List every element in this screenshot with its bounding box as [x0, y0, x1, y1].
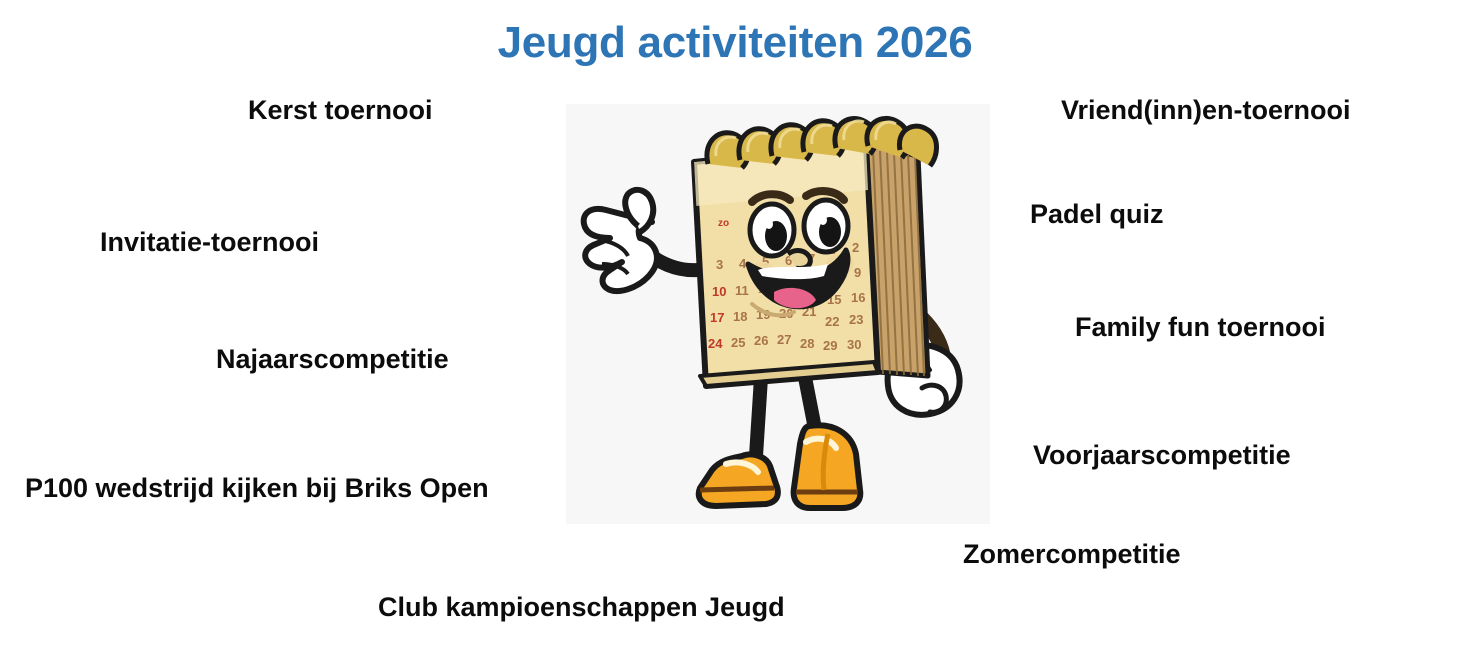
- svg-text:zo: zo: [718, 218, 729, 229]
- svg-text:26: 26: [754, 333, 768, 348]
- svg-text:3: 3: [716, 257, 723, 272]
- activity-label-vriendinnen-toernooi: Vriend(inn)en-toernooi: [1061, 96, 1351, 124]
- svg-text:17: 17: [710, 310, 724, 325]
- svg-text:24: 24: [708, 336, 723, 351]
- calendar-mascot-icon: zo ma 1 2 3 4 5 6 7 8 9 10 11 12: [566, 104, 990, 524]
- svg-text:29: 29: [823, 338, 837, 353]
- activity-label-invitatie-toernooi: Invitatie-toernooi: [100, 228, 319, 256]
- svg-text:18: 18: [733, 309, 747, 324]
- mascot-right-shoe: [794, 425, 861, 508]
- svg-text:25: 25: [731, 335, 745, 350]
- svg-text:2: 2: [852, 240, 859, 255]
- svg-text:11: 11: [735, 283, 749, 298]
- activity-label-padel-quiz: Padel quiz: [1030, 200, 1164, 228]
- svg-text:30: 30: [847, 337, 861, 352]
- activity-label-family-fun-toernooi: Family fun toernooi: [1075, 313, 1326, 341]
- page-title: Jeugd activiteiten 2026: [0, 18, 1470, 68]
- mascot-right-eye: [804, 200, 848, 252]
- svg-text:22: 22: [825, 314, 839, 329]
- svg-text:10: 10: [712, 284, 726, 299]
- activity-label-najaarscompetitie: Najaarscompetitie: [216, 345, 449, 373]
- activity-label-p100-wedstrijd: P100 wedstrijd kijken bij Briks Open: [25, 474, 489, 502]
- activity-label-voorjaarscompetitie: Voorjaarscompetitie: [1033, 441, 1291, 469]
- svg-text:28: 28: [800, 336, 814, 351]
- svg-text:27: 27: [777, 332, 791, 347]
- svg-text:16: 16: [851, 290, 865, 305]
- mascot-left-eye: [750, 204, 794, 256]
- calendar-mascot-image: zo ma 1 2 3 4 5 6 7 8 9 10 11 12: [566, 104, 990, 524]
- activity-label-club-kampioenschappen-jeugd: Club kampioenschappen Jeugd: [378, 593, 785, 621]
- activity-label-zomercompetitie: Zomercompetitie: [963, 540, 1181, 568]
- svg-text:9: 9: [854, 265, 861, 280]
- activity-label-kerst-toernooi: Kerst toernooi: [248, 96, 433, 124]
- svg-text:23: 23: [849, 312, 863, 327]
- slide-canvas: Jeugd activiteiten 2026 Kerst toernooi I…: [0, 0, 1470, 658]
